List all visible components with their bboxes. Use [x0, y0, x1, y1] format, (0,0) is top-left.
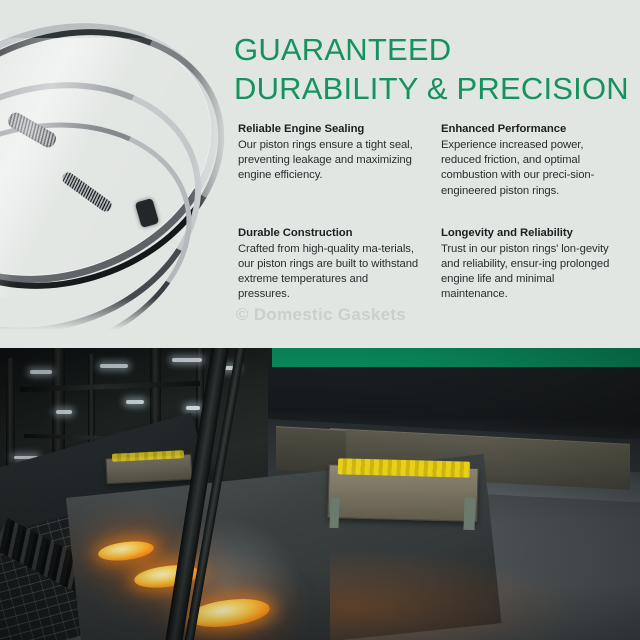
feature-title: Enhanced Performance	[441, 122, 623, 137]
feature-grid: Reliable Engine Sealing Our piston rings…	[238, 122, 628, 303]
ceiling-lamp	[100, 364, 128, 368]
headline-line-2: DURABILITY & PRECISION	[234, 69, 634, 108]
headline: GUARANTEED DURABILITY & PRECISION	[234, 30, 634, 108]
billet-glow	[330, 548, 580, 640]
feature-body: Experience increased power, reduced fric…	[441, 138, 623, 199]
top-content-panel: GUARANTEED DURABILITY & PRECISION Reliab…	[0, 0, 640, 348]
ceiling-lamp	[186, 406, 200, 410]
green-accent-bar	[272, 348, 640, 367]
yellow-parts-pile	[338, 458, 470, 477]
ceiling-lamp	[172, 358, 202, 362]
feature-item-enhanced-performance: Enhanced Performance Experience increase…	[441, 122, 623, 199]
feature-body: Trust in our piston rings' lon-gevity an…	[441, 242, 623, 303]
feature-title: Durable Construction	[238, 226, 420, 241]
feature-title: Longevity and Reliability	[441, 226, 623, 241]
piston-ring-set-photo	[0, 8, 238, 338]
feature-body: Our piston rings ensure a tight seal, pr…	[238, 138, 420, 184]
headline-line-1: GUARANTEED	[234, 30, 634, 69]
photo-fade-right	[192, 8, 238, 338]
feature-body: Crafted from high-quality ma-terials, ou…	[238, 242, 420, 303]
feature-item-durable-construction: Durable Construction Crafted from high-q…	[238, 226, 420, 303]
photo-fade-bottom	[0, 298, 238, 338]
crate-leg	[329, 498, 339, 528]
ceiling-lamp	[126, 400, 144, 404]
cross-brace	[20, 381, 200, 392]
piston-ring-illustration	[0, 8, 238, 338]
feature-title: Reliable Engine Sealing	[238, 122, 420, 137]
feature-item-longevity-and-reliability: Longevity and Reliability Trust in our p…	[441, 226, 623, 303]
advertisement-page: GUARANTEED DURABILITY & PRECISION Reliab…	[0, 0, 640, 640]
crate-leg	[463, 498, 475, 530]
watermark: © Domestic Gaskets	[236, 305, 406, 325]
ceiling-lamp	[56, 410, 72, 414]
feature-item-reliable-engine-sealing: Reliable Engine Sealing Our piston rings…	[238, 122, 420, 199]
ceiling-lamp	[30, 370, 52, 374]
forging-factory-photo: 15	[0, 348, 640, 640]
